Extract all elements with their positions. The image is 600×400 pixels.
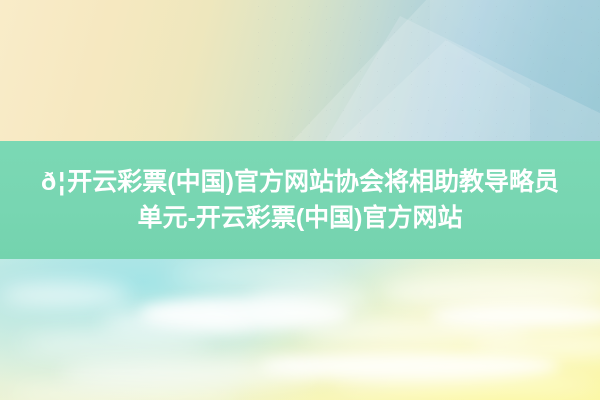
cloud-shape: [10, 383, 240, 400]
banner-title-line-2: 单元-开云彩票(中国)官方网站: [138, 200, 463, 236]
title-banner: ð¦开云彩票(中国)官方网站协会将相助教导略员 单元-开云彩票(中国)官方网…: [0, 141, 600, 259]
cloud-shape: [0, 283, 130, 307]
mojibake-unicorn-icon: ð¦: [41, 168, 67, 196]
diagonal-facet-shape: [330, 40, 530, 150]
cloud-shape: [170, 265, 350, 285]
corner-highlight-overlay: [430, 0, 600, 142]
header-banner-image: [0, 0, 600, 142]
footer-sky-image: [0, 259, 600, 400]
cloud-shape: [330, 371, 600, 397]
page-root: ð¦开云彩票(中国)官方网站协会将相助教导略员 单元-开云彩票(中国)官方网…: [0, 0, 600, 400]
banner-title-line-1-text: 开云彩票(中国)官方网站协会将相助教导略员: [67, 168, 559, 196]
texture-overlay: [250, 0, 600, 142]
banner-title-line-1: ð¦开云彩票(中国)官方网站协会将相助教导略员: [41, 164, 559, 200]
cloud-shape: [20, 329, 210, 359]
